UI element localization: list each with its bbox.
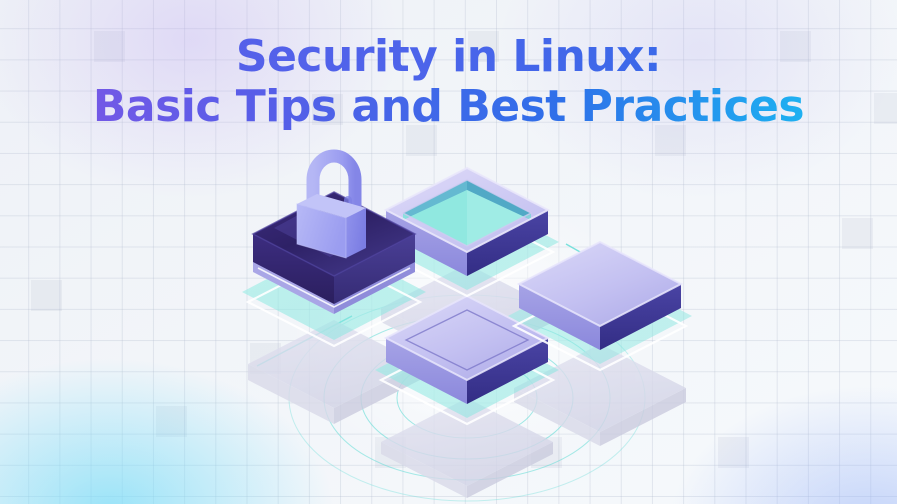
title-line-2: Basic Tips and Best Practices: [0, 82, 897, 132]
title-line-1: Security in Linux:: [0, 32, 897, 82]
banner-root: Security in Linux: Basic Tips and Best P…: [0, 0, 897, 504]
banner-title: Security in Linux: Basic Tips and Best P…: [0, 32, 897, 132]
